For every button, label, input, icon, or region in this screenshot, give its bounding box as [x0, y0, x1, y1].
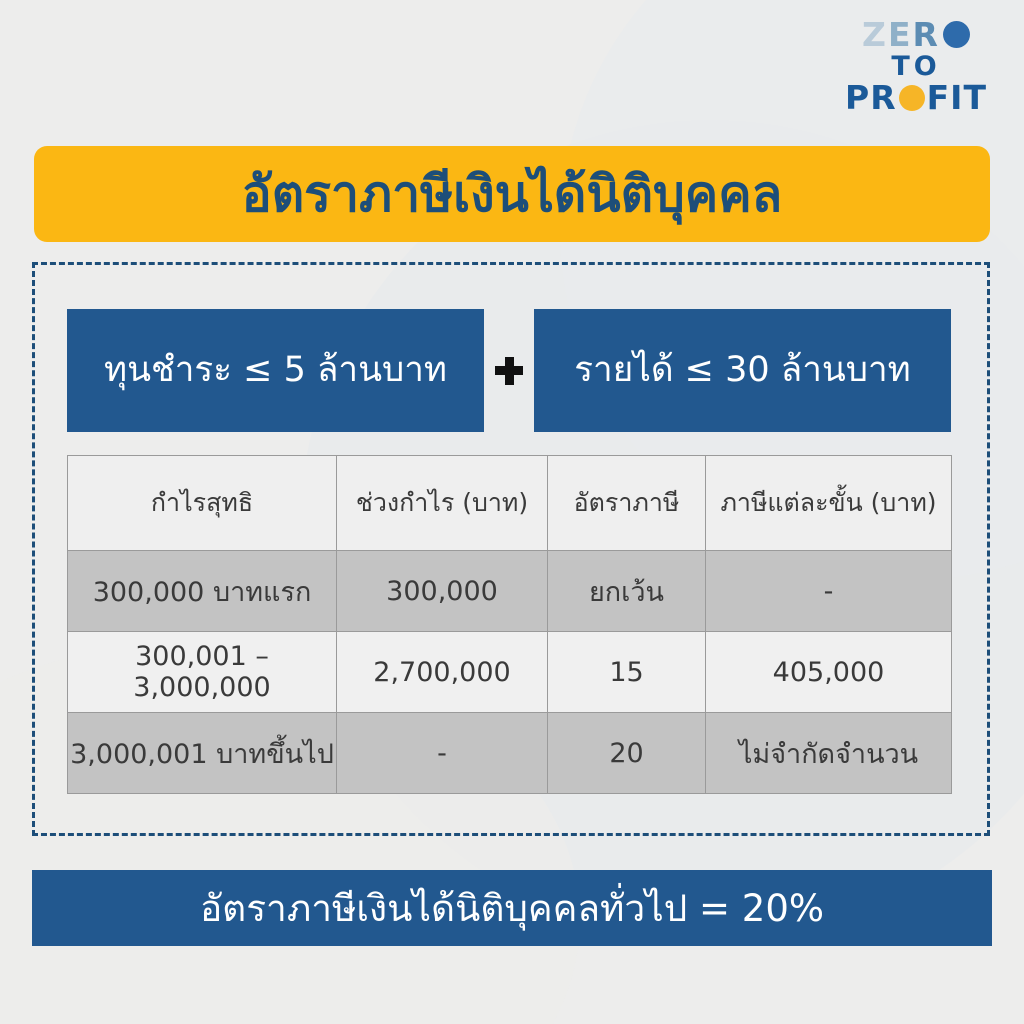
table-header-tax-amount: ภาษีแต่ละขั้น (บาท): [706, 456, 952, 551]
table-header-profit-band: ช่วงกำไร (บาท): [337, 456, 548, 551]
circle-dot-orange-icon: [899, 85, 925, 111]
table-header-net-profit: กำไรสุทธิ: [68, 456, 337, 551]
logo-letter-e: E: [888, 18, 913, 51]
table-cell-tax-rate: 15: [548, 632, 706, 713]
page-title: อัตราภาษีเงินได้นิติบุคคล: [242, 169, 783, 219]
plus-glyph: [495, 357, 523, 385]
table-cell-net-profit: 300,000 บาทแรก: [68, 551, 337, 632]
logo-letter-r: R: [913, 18, 940, 51]
table-cell-profit-band: 300,000: [337, 551, 548, 632]
logo-line-to: TO: [836, 53, 996, 80]
table-row: 300,001 – 3,000,000 2,700,000 15 405,000: [68, 632, 952, 713]
title-banner: อัตราภาษีเงินได้นิติบุคคล: [34, 146, 990, 242]
table-cell-net-profit: 3,000,001 บาทขึ้นไป: [68, 713, 337, 794]
table-cell-net-profit: 300,001 – 3,000,000: [68, 632, 337, 713]
table-row: 3,000,001 บาทขึ้นไป - 20 ไม่จำกัดจำนวน: [68, 713, 952, 794]
footer-summary-text: อัตราภาษีเงินได้นิติบุคคลทั่วไป = 20%: [200, 890, 824, 927]
table-header-tax-rate: อัตราภาษี: [548, 456, 706, 551]
conditions-row: ทุนชำระ ≤ 5 ล้านบาท รายได้ ≤ 30 ล้านบาท: [67, 309, 951, 432]
table-header-row: กำไรสุทธิ ช่วงกำไร (บาท) อัตราภาษี ภาษีแ…: [68, 456, 952, 551]
infographic-page: ZER TO PRFIT อัตราภาษีเงินได้นิติบุคคล ท…: [0, 0, 1024, 1024]
logo-line-zero: ZER: [836, 18, 996, 51]
table-cell-profit-band: 2,700,000: [337, 632, 548, 713]
logo-text-fit: FIT: [927, 81, 987, 114]
condition-left-label: ทุนชำระ ≤ 5 ล้านบาท: [104, 353, 447, 388]
table-cell-tax-amount: -: [706, 551, 952, 632]
table-cell-tax-amount: ไม่จำกัดจำนวน: [706, 713, 952, 794]
logo-letter-z: Z: [862, 18, 888, 51]
tax-rate-table: กำไรสุทธิ ช่วงกำไร (บาท) อัตราภาษี ภาษีแ…: [67, 455, 952, 794]
plus-icon: [484, 309, 534, 432]
brand-logo: ZER TO PRFIT: [836, 18, 996, 114]
table-cell-tax-rate: ยกเว้น: [548, 551, 706, 632]
logo-text-pr: PR: [845, 81, 897, 114]
table-cell-tax-rate: 20: [548, 713, 706, 794]
footer-banner: อัตราภาษีเงินได้นิติบุคคลทั่วไป = 20%: [32, 870, 992, 946]
table-row: 300,000 บาทแรก 300,000 ยกเว้น -: [68, 551, 952, 632]
table-cell-tax-amount: 405,000: [706, 632, 952, 713]
table-cell-profit-band: -: [337, 713, 548, 794]
condition-box-paid-capital: ทุนชำระ ≤ 5 ล้านบาท: [67, 309, 484, 432]
condition-right-label: รายได้ ≤ 30 ล้านบาท: [574, 353, 911, 388]
condition-box-revenue: รายได้ ≤ 30 ล้านบาท: [534, 309, 951, 432]
logo-line-profit: PRFIT: [836, 81, 996, 114]
circle-dot-blue-icon: [943, 21, 970, 48]
